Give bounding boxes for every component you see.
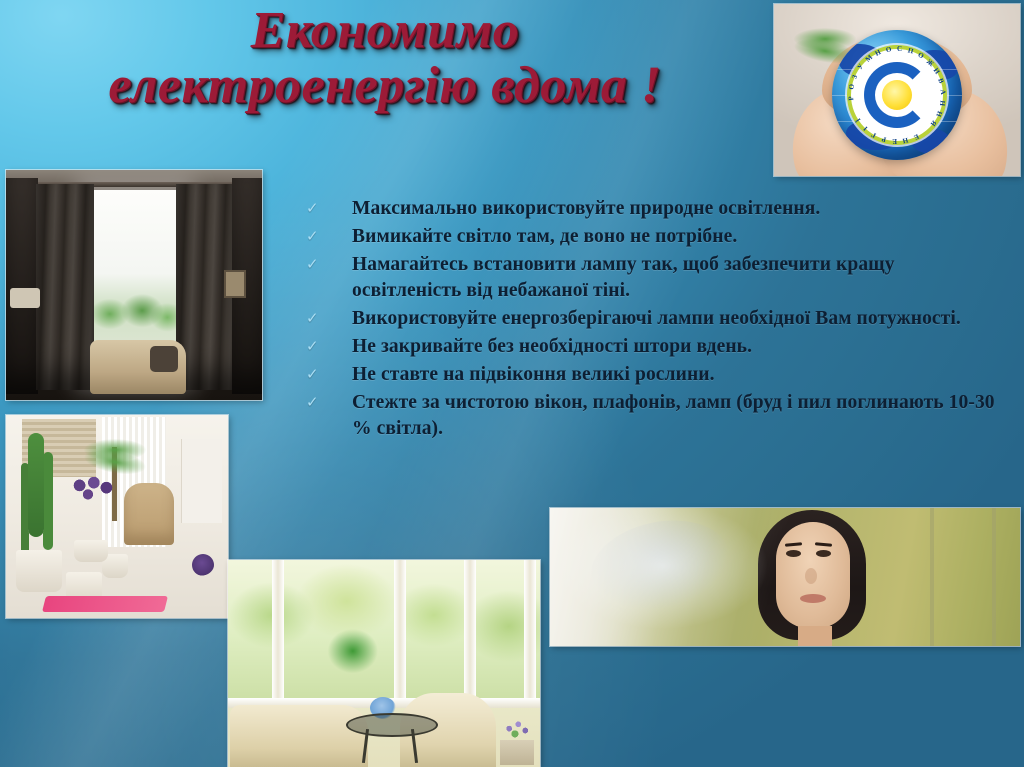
energy-saving-emblem-icon: [847, 45, 947, 145]
checkmark-icon: ✓: [304, 224, 352, 250]
photo-curtained-room: [6, 170, 262, 400]
list-item-text: Стежте за чистотою вікон, плафонів, ламп…: [352, 390, 1004, 442]
slide-title: Економимо електроенергію вдома !: [0, 4, 770, 112]
list-item-text: Намагайтесь встановити лампу так, щоб за…: [352, 252, 1004, 304]
list-item: ✓ Намагайтесь встановити лампу так, щоб …: [304, 252, 1004, 304]
globe-icon: СПОЖИВАННЯ ЕНЕРГІЇ РОЗУМНО: [832, 30, 962, 160]
photo-sunroom-windows: [228, 560, 540, 767]
list-item: ✓ Не закривайте без необхідності штори в…: [304, 334, 1004, 360]
title-line-2: електроенергію вдома !: [0, 59, 770, 112]
list-item: ✓ Максимально використовуйте природне ос…: [304, 196, 1004, 222]
checkmark-icon: ✓: [304, 252, 352, 278]
list-item-text: Вимикайте світло там, де воно не потрібн…: [352, 224, 1004, 250]
photo-woman-cleaning-window: [550, 508, 1020, 646]
list-item-text: Максимально використовуйте природне осві…: [352, 196, 1004, 222]
checkmark-icon: ✓: [304, 334, 352, 360]
list-item: ✓ Вимикайте світло там, де воно не потрі…: [304, 224, 1004, 250]
photo-globe-in-hands: СПОЖИВАННЯ ЕНЕРГІЇ РОЗУМНО: [774, 4, 1020, 176]
presentation-slide: Економимо електроенергію вдома !: [0, 0, 1024, 767]
list-item: ✓ Не ставте на підвіконня великі рослини…: [304, 362, 1004, 388]
checkmark-icon: ✓: [304, 390, 352, 416]
list-item: ✓ Використовуйте енергозберігаючі лампи …: [304, 306, 1004, 332]
title-line-1: Економимо: [0, 4, 770, 57]
list-item: ✓ Стежте за чистотою вікон, плафонів, ла…: [304, 390, 1004, 442]
list-item-text: Не закривайте без необхідності штори вде…: [352, 334, 1004, 360]
energy-saving-tips-list: ✓ Максимально використовуйте природне ос…: [304, 196, 1004, 444]
checkmark-icon: ✓: [304, 362, 352, 388]
checkmark-icon: ✓: [304, 306, 352, 332]
list-item-text: Використовуйте енергозберігаючі лампи не…: [352, 306, 1004, 332]
list-item-text: Не ставте на підвіконня великі рослини.: [352, 362, 1004, 388]
photo-plant-filled-room: [6, 415, 228, 618]
checkmark-icon: ✓: [304, 196, 352, 222]
